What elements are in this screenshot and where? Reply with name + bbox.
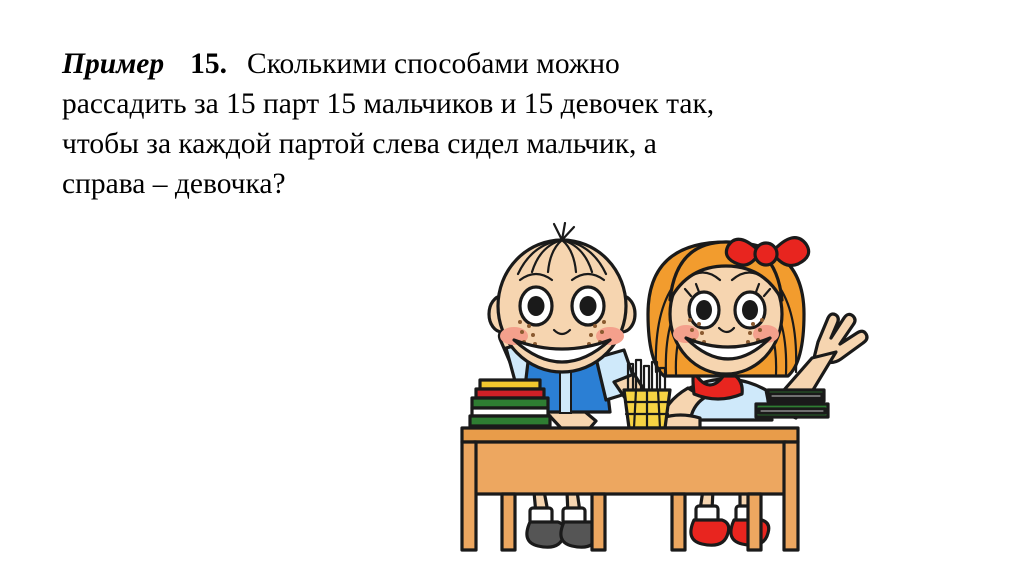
book-stack-left: [470, 380, 550, 426]
desk-leg-2: [502, 494, 515, 550]
problem-statement: Пример15.Сколькими способами можно расса…: [62, 44, 938, 204]
boy-shoe-left: [527, 522, 565, 547]
problem-line-1-rest: Сколькими способами можно: [247, 48, 620, 80]
desk-leg-4: [672, 494, 685, 550]
example-number: 15.: [190, 48, 227, 80]
classroom-illustration: .ol { stroke:#1a1a1a; stroke-width:3.2; …: [400, 222, 900, 574]
desk-front-panel: [474, 442, 786, 494]
desk-leg-1: [462, 442, 476, 550]
problem-line-1: Пример15.Сколькими способами можно: [62, 44, 938, 84]
book-stack-right: [756, 390, 828, 417]
slide-canvas: Пример15.Сколькими способами можно расса…: [0, 0, 1024, 574]
girl-head: [648, 238, 809, 376]
problem-line-2: рассадить за 15 парт 15 мальчиков и 15 д…: [62, 84, 938, 124]
desk-leg-6: [784, 442, 798, 550]
desk-leg-5: [748, 494, 761, 550]
school-desk: [462, 428, 798, 550]
desk-leg-3: [592, 494, 605, 550]
problem-line-3: чтобы за каждой партой слева сидел мальч…: [62, 124, 938, 164]
example-label: Пример: [62, 48, 164, 80]
book-green-2: [470, 416, 550, 426]
problem-line-4: справа – девочка?: [62, 164, 938, 204]
girl-bow: [726, 238, 808, 266]
desk-top: [462, 428, 798, 442]
girl-body: [660, 372, 772, 428]
girl-shoe-left: [691, 520, 729, 545]
